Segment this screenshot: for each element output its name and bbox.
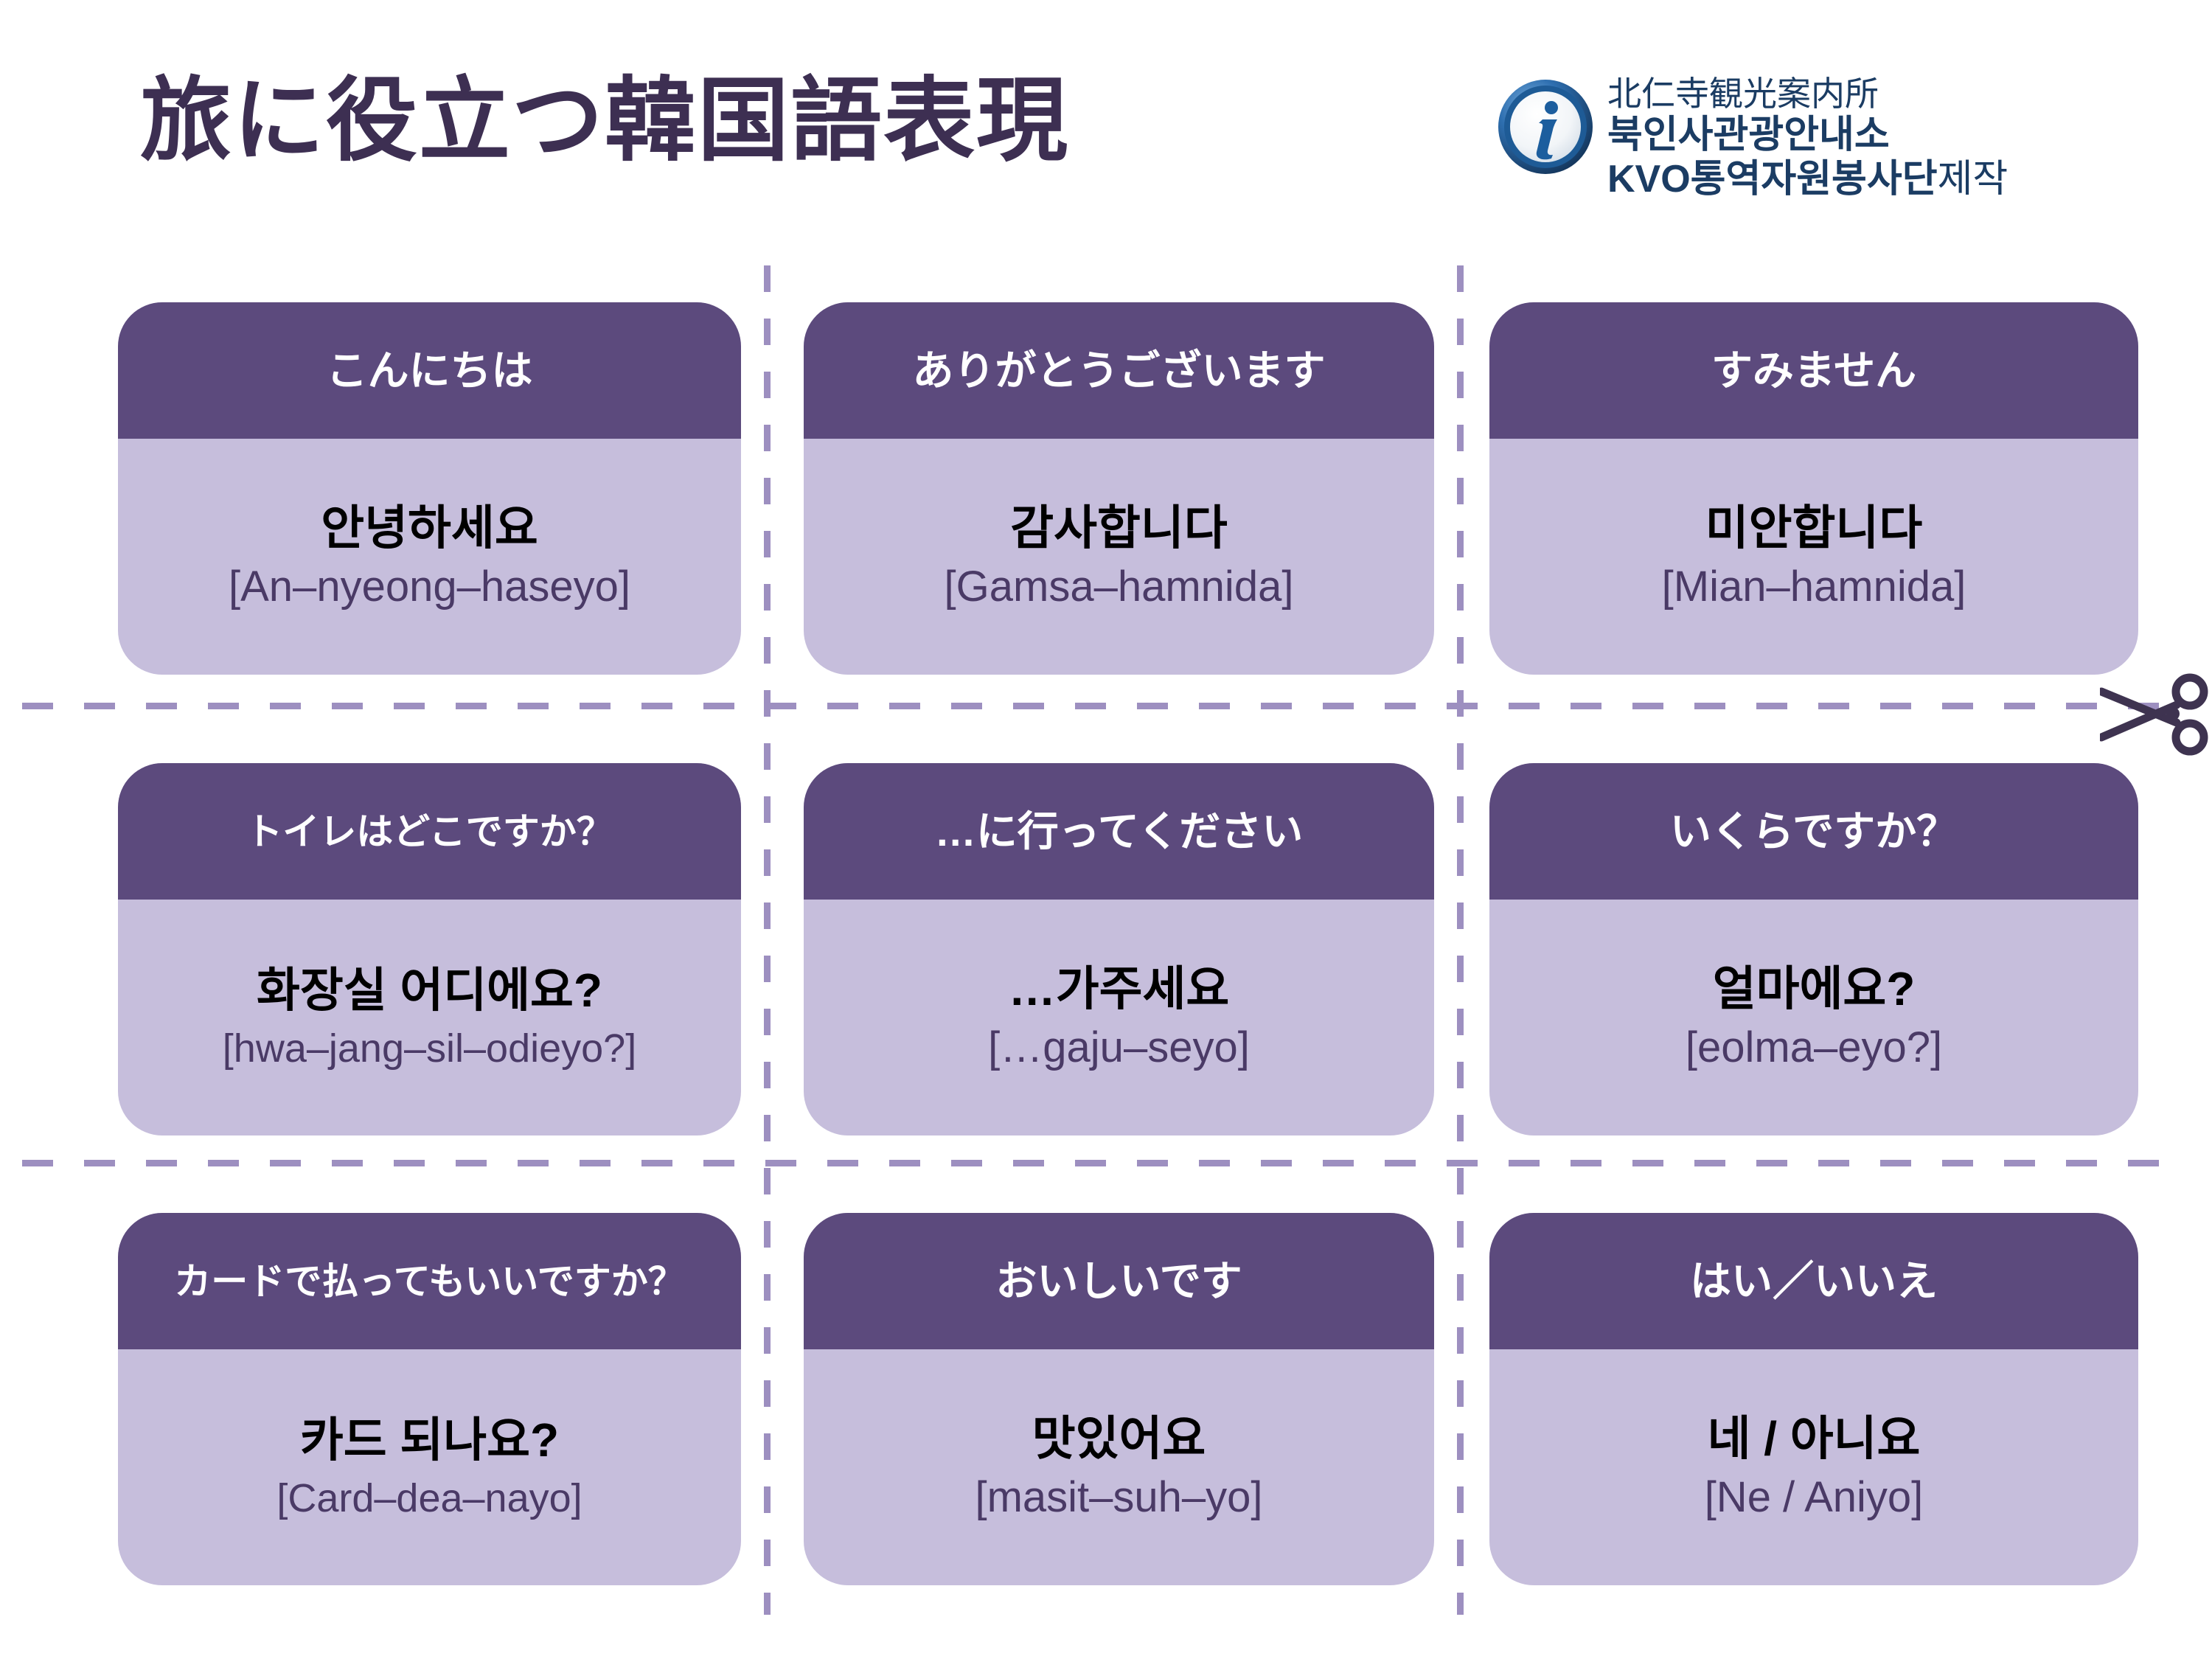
phrase-korean: 카드 되나요? [300, 1414, 559, 1467]
phrase-card-body: …가주세요 […gaju–seyo] [804, 900, 1434, 1135]
phrase-japanese: おいしいです [995, 1261, 1242, 1302]
phrase-korean: 화장실 어디에요? [257, 964, 602, 1018]
phrase-card-grid: こんにちは 안녕하세요 [An–nyeong–haseyo] ありがとうございま… [0, 0, 2212, 1659]
phrase-japanese: カードで払ってもいいですか？ [174, 1263, 685, 1300]
phrase-japanese: はい／いいえ [1690, 1261, 1938, 1302]
phrase-korean: 네 / 아니요 [1708, 1413, 1921, 1466]
phrase-card[interactable]: はい／いいえ 네 / 아니요 [Ne / Aniyo] [1489, 1213, 2138, 1585]
phrase-card[interactable]: おいしいです 맛있어요 [masit–suh–yo] [804, 1213, 1434, 1585]
phrase-romanization: […gaju–seyo] [988, 1024, 1250, 1072]
phrase-romanization: [eolma–eyo?] [1686, 1024, 1942, 1072]
phrase-romanization: [An–nyeong–haseyo] [229, 563, 630, 611]
phrase-card-header: ありがとうございます [804, 302, 1434, 439]
phrase-card-body: 맛있어요 [masit–suh–yo] [804, 1349, 1434, 1585]
phrase-card-header: おいしいです [804, 1213, 1434, 1349]
phrase-card-header: はい／いいえ [1489, 1213, 2138, 1349]
phrase-romanization: [Card–dea–nayo] [276, 1476, 582, 1520]
phrase-card-header: すみません [1489, 302, 2138, 439]
phrase-card-header: こんにちは [118, 302, 741, 439]
phrase-card-header: …に行ってください [804, 763, 1434, 900]
phrase-card-body: 카드 되나요? [Card–dea–nayo] [118, 1349, 741, 1585]
phrase-card-header: いくらですか？ [1489, 763, 2138, 900]
phrase-card[interactable]: すみません 미안합니다 [Mian–hamnida] [1489, 302, 2138, 675]
phrase-romanization: [hwa–jang–sil–odieyo?] [223, 1026, 636, 1071]
phrase-card[interactable]: ありがとうございます 감사합니다 [Gamsa–hamnida] [804, 302, 1434, 675]
phrase-korean: 안녕하세요 [321, 502, 538, 555]
phrase-card-body: 감사합니다 [Gamsa–hamnida] [804, 439, 1434, 675]
phrase-korean: 얼마에요? [1713, 963, 1916, 1016]
phrase-korean: 감사합니다 [1010, 502, 1227, 555]
phrase-card-header: カードで払ってもいいですか？ [118, 1213, 741, 1349]
phrase-card[interactable]: こんにちは 안녕하세요 [An–nyeong–haseyo] [118, 302, 741, 675]
phrase-card[interactable]: いくらですか？ 얼마에요? [eolma–eyo?] [1489, 763, 2138, 1135]
phrase-romanization: [Gamsa–hamnida] [945, 563, 1294, 611]
phrase-korean: …가주세요 [1009, 963, 1230, 1016]
phrase-card-body: 얼마에요? [eolma–eyo?] [1489, 900, 2138, 1135]
phrase-romanization: [masit–suh–yo] [975, 1474, 1262, 1522]
phrase-card-header: トイレはどこですか？ [118, 763, 741, 900]
phrase-card-body: 미안합니다 [Mian–hamnida] [1489, 439, 2138, 675]
phrase-card-body: 화장실 어디에요? [hwa–jang–sil–odieyo?] [118, 900, 741, 1135]
phrase-japanese: いくらですか？ [1670, 811, 1958, 852]
phrase-japanese: トイレはどこですか？ [246, 813, 613, 850]
phrase-korean: 미안합니다 [1705, 502, 1922, 555]
phrase-japanese: ありがとうございます [913, 350, 1326, 392]
phrase-romanization: [Ne / Aniyo] [1705, 1474, 1924, 1522]
phrase-romanization: [Mian–hamnida] [1662, 563, 1966, 611]
phrase-japanese: …に行ってください [935, 811, 1304, 852]
phrase-card[interactable]: トイレはどこですか？ 화장실 어디에요? [hwa–jang–sil–odiey… [118, 763, 741, 1135]
phrase-card[interactable]: カードで払ってもいいですか？ 카드 되나요? [Card–dea–nayo] [118, 1213, 741, 1585]
phrase-japanese: すみません [1711, 350, 1916, 392]
phrase-korean: 맛있어요 [1032, 1413, 1206, 1466]
phrase-japanese: こんにちは [327, 350, 533, 392]
phrase-card-body: 안녕하세요 [An–nyeong–haseyo] [118, 439, 741, 675]
phrase-card-body: 네 / 아니요 [Ne / Aniyo] [1489, 1349, 2138, 1585]
phrase-card[interactable]: …に行ってください …가주세요 […gaju–seyo] [804, 763, 1434, 1135]
